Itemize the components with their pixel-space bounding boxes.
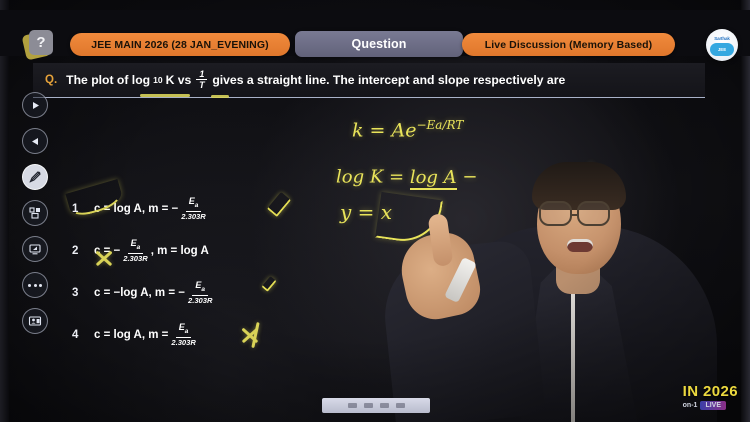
live-class-player: k = Ae−Ea/RT log K = log A − × 1 T y = x	[0, 0, 750, 422]
play-left-icon	[30, 136, 41, 147]
monitor-person-icon	[28, 314, 42, 328]
option-number-2: 2	[72, 245, 94, 257]
option-4-fraction: Ea 2.303R	[171, 323, 196, 347]
seek-bar-tick	[364, 403, 373, 408]
question-part1: The plot of log	[66, 73, 150, 87]
sidebar-item-presenter-view[interactable]	[22, 308, 48, 334]
option-4-slash-annotation	[251, 322, 259, 348]
question-card-icon[interactable]: ?	[24, 30, 54, 60]
option-2-tail: , m = log A	[151, 245, 209, 257]
seek-bar-tick	[380, 403, 389, 408]
play-right-icon	[30, 100, 41, 111]
option-row-2[interactable]: 2 c = − Ea 2.303R , m = log A	[72, 230, 322, 272]
question-frac-num: 1	[196, 70, 207, 80]
question-highlight-2	[211, 95, 229, 98]
sidebar-item-more-options[interactable]	[22, 272, 48, 298]
question-label: Q.	[45, 74, 57, 86]
question-highlight-1	[140, 94, 190, 97]
seek-bar-tick	[348, 403, 357, 408]
ellipsis-icon	[28, 284, 42, 287]
watermark-title: IN 2026	[683, 383, 738, 400]
option-3-fraction: Ea 2.303R	[188, 281, 213, 305]
option-2-fraction: Ea 2.303R	[123, 239, 148, 263]
left-toolbar	[22, 92, 48, 334]
option-3-lead: c = −log A, m = −	[94, 287, 185, 299]
option-3-frac-den: 2.303R	[188, 296, 213, 305]
brand-logo-chip: JEE	[710, 43, 734, 56]
watermark-chip: LIVE	[700, 401, 726, 410]
sidebar-item-next-arrow[interactable]	[22, 92, 48, 118]
brand-logo-name: Sarthak	[714, 37, 729, 42]
question-part2: K vs	[166, 73, 192, 87]
watermark-sub-text: on-1	[683, 402, 698, 409]
answer-options: 1 c = log A, m = − Ea 2.303R 2 c = − Ea …	[72, 188, 322, 356]
seek-bar[interactable]	[322, 398, 430, 413]
option-text-2: c = − Ea 2.303R , m = log A	[94, 239, 209, 263]
exam-title-pill[interactable]: JEE MAIN 2026 (28 JAN_EVENING)	[70, 33, 290, 56]
sidebar-item-annotate[interactable]	[22, 164, 48, 190]
question-bar: Q. The plot of log10 K vs 1 T gives a st…	[33, 63, 705, 98]
question-fraction: 1 T	[196, 70, 207, 91]
sidebar-item-prev-arrow[interactable]	[22, 128, 48, 154]
option-row-4[interactable]: 4 c = log A, m = Ea 2.303R	[72, 314, 322, 356]
option-text-4: c = log A, m = Ea 2.303R	[94, 323, 199, 347]
question-part3: gives a straight line. The intercept and…	[212, 73, 565, 87]
option-2-lead: c = −	[94, 245, 120, 257]
option-1-frac-num: Ea	[186, 197, 202, 212]
option-3-frac-num: Ea	[192, 281, 208, 296]
presenter-glasses-bridge	[572, 214, 578, 216]
option-number-3: 3	[72, 287, 94, 299]
presenter-mouth	[567, 239, 593, 252]
question-tab-pill[interactable]: Question	[295, 31, 463, 57]
question-frac-den: T	[199, 80, 205, 90]
presenter-glasses-left	[539, 201, 572, 226]
option-row-3[interactable]: 3 c = −log A, m = − Ea 2.303R	[72, 272, 322, 314]
seek-bar-tick	[396, 403, 405, 408]
sidebar-item-layout[interactable]	[22, 200, 48, 226]
option-1-tick-annotation	[267, 192, 291, 217]
question-log-base: 10	[153, 75, 162, 85]
option-1-frac-den: 2.303R	[181, 212, 206, 221]
presenter-video	[425, 92, 725, 422]
option-4-frac-num: Ea	[176, 323, 192, 338]
presenter-glasses-right	[577, 201, 610, 226]
stage-edge-left	[0, 0, 9, 422]
stage-edge-right	[741, 0, 750, 422]
option-1-fraction: Ea 2.303R	[181, 197, 206, 221]
sidebar-item-share-screen[interactable]	[22, 236, 48, 262]
option-text-3: c = −log A, m = − Ea 2.303R	[94, 281, 215, 305]
option-4-lead: c = log A, m =	[94, 329, 168, 341]
watermark-subline: on-1 LIVE	[683, 401, 738, 410]
top-bar: ? JEE MAIN 2026 (28 JAN_EVENING) Questio…	[0, 10, 750, 56]
option-number-4: 4	[72, 329, 94, 341]
question-text: The plot of log10 K vs 1 T gives a strai…	[66, 70, 565, 91]
pen-icon	[28, 170, 42, 184]
option-4-cross-annotation	[240, 325, 260, 345]
option-3-tick-annotation	[261, 276, 276, 292]
option-2-frac-den: 2.303R	[123, 254, 148, 263]
option-2-frac-num: Ea	[128, 239, 144, 254]
watermark: IN 2026 on-1 LIVE	[683, 383, 738, 410]
question-card-front: ?	[29, 30, 53, 55]
screen-share-icon	[28, 242, 42, 256]
live-discussion-pill[interactable]: Live Discussion (Memory Based)	[462, 33, 675, 56]
brand-logo-badge: Sarthak JEE	[706, 29, 738, 61]
option-4-frac-den: 2.303R	[171, 338, 196, 347]
layout-grid-icon	[28, 206, 42, 220]
